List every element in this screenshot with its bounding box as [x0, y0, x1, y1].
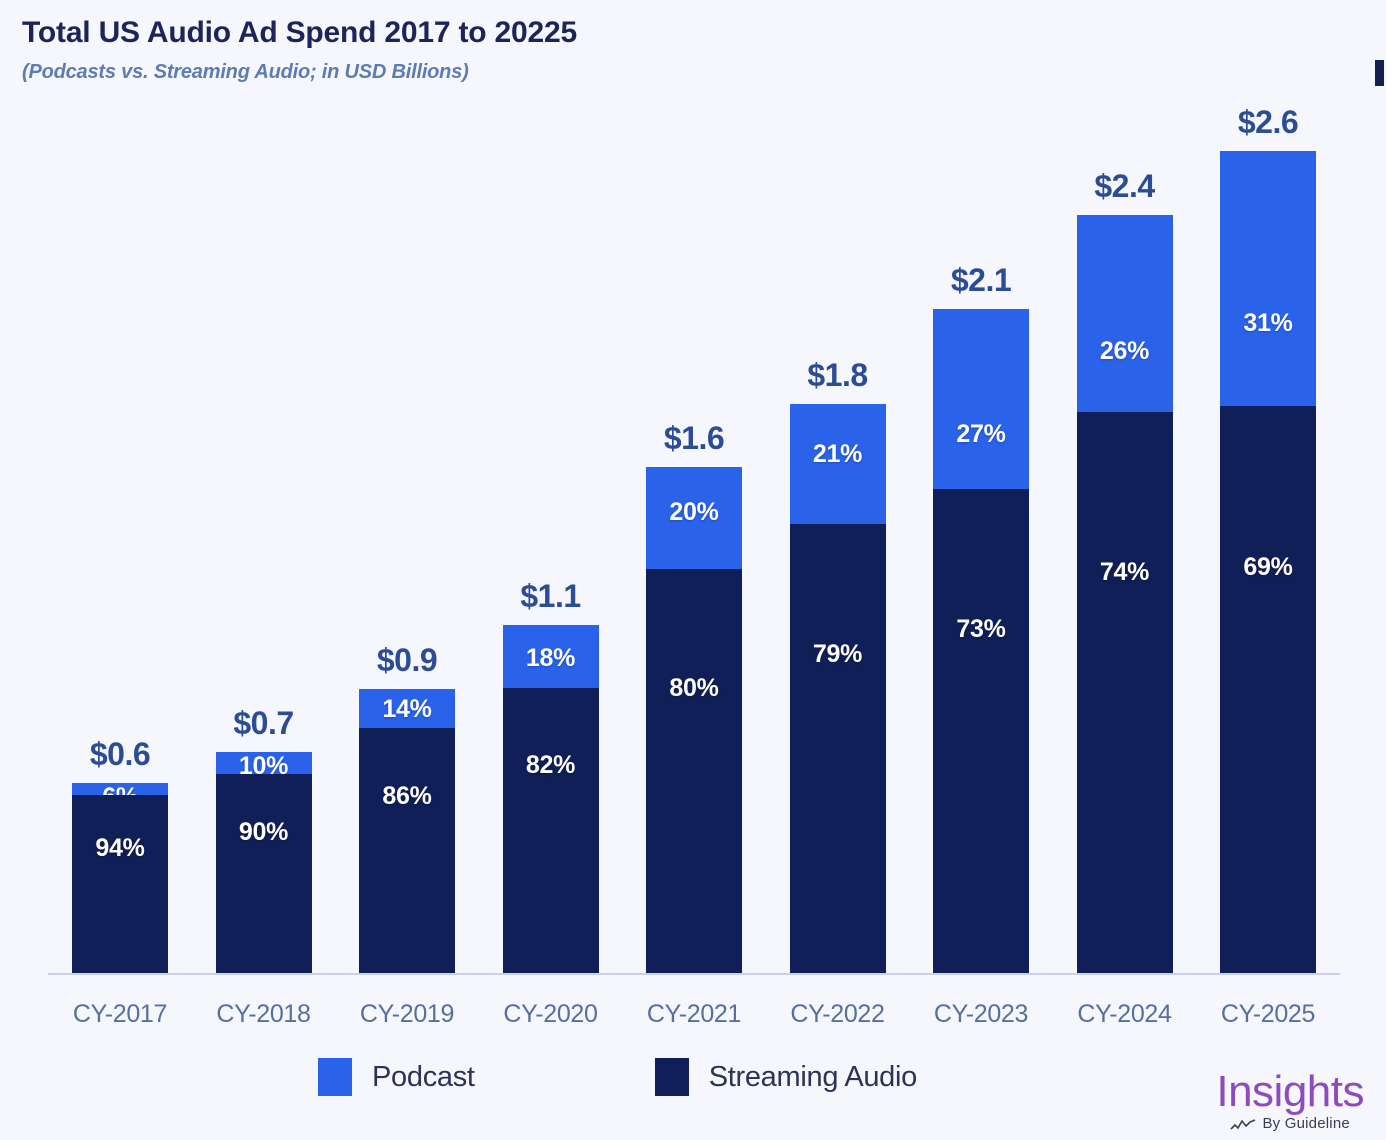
brand-logo: Insights By Guideline — [1216, 1071, 1364, 1132]
x-axis-label: CY-2024 — [1050, 1000, 1200, 1029]
bar-segment-streaming-audio[interactable]: 74% — [1077, 412, 1173, 973]
chart-legend: Podcast Streaming Audio — [318, 1058, 917, 1096]
stacked-bar[interactable]: 20%80% — [646, 467, 742, 973]
bar-segment-label-podcast: 21% — [790, 440, 886, 469]
bar-segment-streaming-audio[interactable]: 79% — [790, 524, 886, 973]
bar-total-label: $1.8 — [768, 357, 908, 394]
bar-segment-label-podcast: 20% — [646, 498, 742, 527]
x-axis-label: CY-2019 — [332, 1000, 482, 1029]
bar-group[interactable]: $2.631%69% — [1220, 151, 1316, 973]
legend-label-podcast: Podcast — [372, 1061, 475, 1094]
bar-total-label: $2.4 — [1055, 168, 1195, 205]
bar-segment-label-podcast: 14% — [359, 695, 455, 724]
bar-segment-podcast[interactable]: 26% — [1077, 215, 1173, 412]
bar-segment-label-streaming-audio: 73% — [933, 615, 1029, 644]
bar-chart-plot: $0.66%94%CY-2017$0.710%90%CY-2018$0.914%… — [0, 0, 1386, 1140]
logo-wordmark: Insights — [1216, 1071, 1364, 1113]
bar-segment-streaming-audio[interactable]: 73% — [933, 489, 1029, 973]
stacked-bar[interactable]: 31%69% — [1220, 151, 1316, 973]
x-axis-label: CY-2023 — [906, 1000, 1056, 1029]
x-axis-label: CY-2021 — [619, 1000, 769, 1029]
bar-segment-podcast[interactable]: 21% — [790, 404, 886, 523]
bar-total-label: $1.1 — [481, 578, 621, 615]
bar-segment-label-streaming-audio: 80% — [646, 674, 742, 703]
bar-total-label: $2.6 — [1198, 104, 1338, 141]
legend-item-podcast[interactable]: Podcast — [318, 1058, 475, 1096]
stacked-bar[interactable]: 6%94% — [72, 783, 168, 973]
bar-segment-label-streaming-audio: 86% — [359, 782, 455, 811]
logo-subline: By Guideline — [1216, 1115, 1364, 1132]
logo-subtext: By Guideline — [1262, 1115, 1349, 1132]
bar-segment-label-podcast: 27% — [933, 420, 1029, 449]
bar-segment-podcast[interactable]: 20% — [646, 467, 742, 568]
bar-segment-podcast[interactable]: 18% — [503, 625, 599, 688]
bar-total-label: $0.7 — [194, 705, 334, 742]
x-axis-label: CY-2017 — [45, 1000, 195, 1029]
stacked-bar[interactable]: 10%90% — [216, 752, 312, 973]
chart-page: Total US Audio Ad Spend 2017 to 20225 (P… — [0, 0, 1386, 1140]
bar-segment-podcast[interactable]: 10% — [216, 752, 312, 774]
bar-segment-label-streaming-audio: 82% — [503, 751, 599, 780]
bar-group[interactable]: $1.118%82% — [503, 625, 599, 973]
bar-segment-label-podcast: 26% — [1077, 337, 1173, 366]
bar-segment-label-streaming-audio: 69% — [1220, 553, 1316, 582]
bar-segment-label-podcast: 18% — [503, 644, 599, 673]
x-axis-line — [48, 973, 1340, 975]
bar-segment-label-streaming-audio: 90% — [216, 818, 312, 847]
stacked-bar[interactable]: 21%79% — [790, 404, 886, 973]
stacked-bar[interactable]: 18%82% — [503, 625, 599, 973]
bar-segment-streaming-audio[interactable]: 82% — [503, 688, 599, 973]
bar-segment-podcast[interactable]: 27% — [933, 309, 1029, 488]
bar-segment-streaming-audio[interactable]: 80% — [646, 569, 742, 973]
bar-group[interactable]: $2.127%73% — [933, 309, 1029, 973]
x-axis-label: CY-2022 — [763, 1000, 913, 1029]
bar-segment-podcast[interactable]: 14% — [359, 689, 455, 729]
bar-segment-label-streaming-audio: 74% — [1077, 558, 1173, 587]
bar-total-label: $2.1 — [911, 262, 1051, 299]
x-axis-label: CY-2018 — [189, 1000, 339, 1029]
legend-swatch-streaming-audio-icon — [655, 1058, 689, 1096]
bar-segment-podcast[interactable]: 6% — [72, 783, 168, 794]
bar-segment-streaming-audio[interactable]: 86% — [359, 728, 455, 973]
bar-group[interactable]: $0.914%86% — [359, 689, 455, 973]
bar-segment-streaming-audio[interactable]: 69% — [1220, 406, 1316, 973]
stacked-bar[interactable]: 27%73% — [933, 309, 1029, 973]
x-axis-label: CY-2020 — [476, 1000, 626, 1029]
bar-segment-podcast[interactable]: 31% — [1220, 151, 1316, 406]
bar-segment-streaming-audio[interactable]: 90% — [216, 774, 312, 973]
bar-group[interactable]: $1.821%79% — [790, 404, 886, 973]
bar-group[interactable]: $0.710%90% — [216, 752, 312, 973]
legend-swatch-podcast-icon — [318, 1058, 352, 1096]
bar-total-label: $0.9 — [337, 642, 477, 679]
bar-total-label: $1.6 — [624, 420, 764, 457]
bar-group[interactable]: $1.620%80% — [646, 467, 742, 973]
bar-segment-label-podcast: 31% — [1220, 309, 1316, 338]
bar-group[interactable]: $0.66%94% — [72, 783, 168, 973]
bar-total-label: $0.6 — [50, 736, 190, 773]
stacked-bar[interactable]: 14%86% — [359, 689, 455, 973]
bar-group[interactable]: $2.426%74% — [1077, 215, 1173, 973]
legend-item-streaming-audio[interactable]: Streaming Audio — [655, 1058, 917, 1096]
stacked-bar[interactable]: 26%74% — [1077, 215, 1173, 973]
bar-segment-label-streaming-audio: 79% — [790, 640, 886, 669]
x-axis-label: CY-2025 — [1193, 1000, 1343, 1029]
bar-segment-streaming-audio[interactable]: 94% — [72, 795, 168, 973]
legend-label-streaming-audio: Streaming Audio — [709, 1061, 917, 1094]
bar-segment-label-streaming-audio: 94% — [72, 834, 168, 863]
line-chart-squiggle-icon — [1230, 1118, 1256, 1130]
